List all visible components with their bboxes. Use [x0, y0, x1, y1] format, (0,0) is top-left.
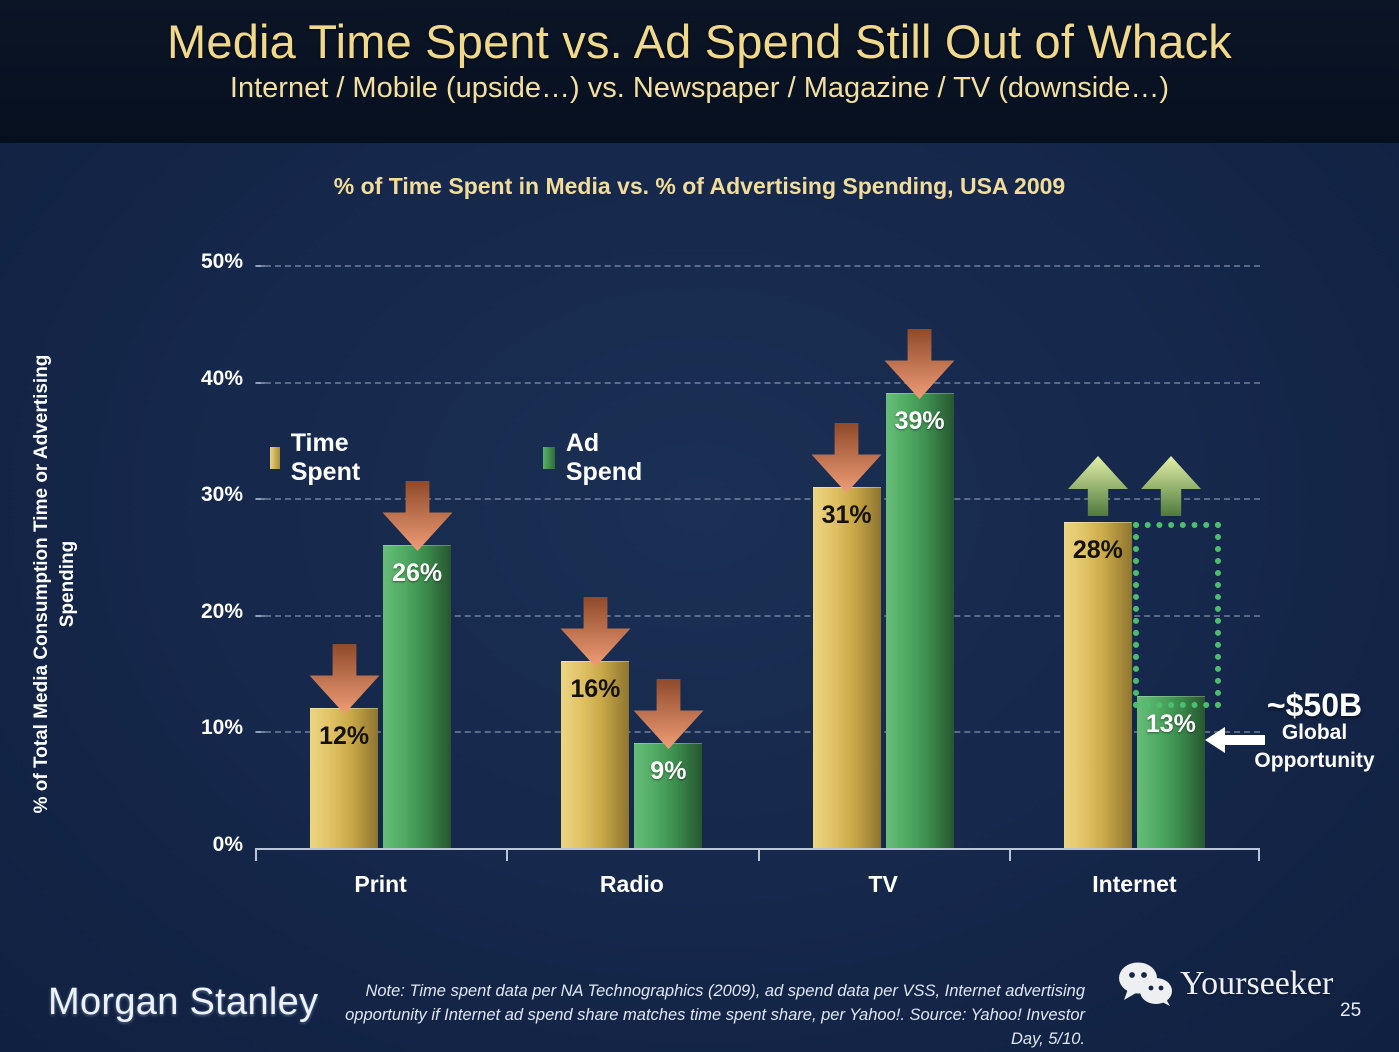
slide-header: Media Time Spent vs. Ad Spend Still Out …: [0, 0, 1399, 143]
up-arrow-icon: [1059, 456, 1137, 516]
x-axis-label-radio: Radio: [522, 871, 742, 898]
chart-title: % of Time Spent in Media vs. % of Advert…: [0, 173, 1399, 200]
down-arrow-icon: [631, 679, 706, 749]
up-arrow-icon: [1132, 456, 1210, 516]
legend-label-ad-spend: Ad Spend: [566, 429, 648, 487]
callout-line2: Global: [1232, 719, 1397, 747]
callout-line3: Opportunity: [1232, 747, 1397, 775]
x-axis-label-tv: TV: [773, 871, 993, 898]
legend-label-time-spent: Time Spent: [291, 429, 368, 487]
page-number: 25: [1340, 1000, 1361, 1022]
slide-body: % of Time Spent in Media vs. % of Advert…: [0, 143, 1399, 1052]
y-axis-tick: [256, 498, 265, 500]
down-arrow-icon: [558, 597, 633, 667]
bar-value-label: 39%: [886, 407, 954, 436]
bar-internet-time-spent[interactable]: [1064, 522, 1132, 848]
y-axis-tick: [256, 731, 265, 733]
y-axis-tick: [256, 265, 265, 267]
y-axis-tick-label: 20%: [173, 600, 243, 624]
bar-value-label: 28%: [1064, 536, 1132, 565]
bar-value-label: 13%: [1137, 710, 1205, 739]
source-note: Note: Time spent data per NA Technograph…: [310, 979, 1085, 1051]
down-arrow-icon: [809, 423, 884, 493]
x-axis-tick: [1258, 848, 1260, 861]
page-title: Media Time Spent vs. Ad Spend Still Out …: [0, 14, 1399, 69]
gridline: [255, 382, 1260, 384]
x-axis-tick: [758, 848, 760, 861]
y-axis-tick-label: 10%: [173, 716, 243, 740]
y-axis-tick: [256, 382, 265, 384]
opportunity-box: [1133, 522, 1221, 709]
legend-swatch-time-spent: [270, 447, 280, 469]
y-axis-tick-label: 0%: [173, 833, 243, 857]
bar-tv-ad-spend[interactable]: [886, 393, 954, 848]
y-axis-tick-label: 30%: [173, 483, 243, 507]
bar-print-ad-spend[interactable]: [383, 545, 451, 848]
callout-amount: ~$50B: [1232, 691, 1397, 719]
bar-value-label: 9%: [634, 757, 702, 786]
down-arrow-icon: [307, 644, 382, 714]
x-axis-tick: [1009, 848, 1011, 861]
bar-value-label: 31%: [813, 501, 881, 530]
legend-item-ad-spend: Ad Spend: [543, 429, 647, 487]
x-axis-label-internet: Internet: [1024, 871, 1244, 898]
bar-value-label: 26%: [383, 559, 451, 588]
bar-tv-time-spent[interactable]: [813, 487, 881, 848]
y-axis-tick-label: 40%: [173, 367, 243, 391]
bar-value-label: 12%: [310, 722, 378, 751]
down-arrow-icon: [380, 481, 455, 551]
legend-item-time-spent: Time Spent: [270, 429, 367, 487]
y-axis-tick: [256, 615, 265, 617]
slide: Media Time Spent vs. Ad Spend Still Out …: [0, 0, 1399, 1052]
plot-area: 12%26%16%9%31%39%28%13%: [255, 265, 1260, 848]
bar-value-label: 16%: [561, 675, 629, 704]
x-axis-label-print: Print: [271, 871, 491, 898]
legend-swatch-ad-spend: [543, 447, 555, 469]
x-axis-tick: [506, 848, 508, 861]
page-subtitle: Internet / Mobile (upside…) vs. Newspape…: [0, 72, 1399, 105]
gridline: [255, 265, 1260, 267]
callout-annotation: ~$50B Global Opportunity: [1232, 691, 1397, 775]
down-arrow-icon: [882, 329, 957, 399]
y-axis-tick-label: 50%: [173, 250, 243, 274]
morgan-stanley-logo: Morgan Stanley: [48, 981, 318, 1024]
y-axis-title: % of Total Media Consumption Time or Adv…: [29, 324, 81, 844]
x-axis-tick: [255, 848, 257, 861]
